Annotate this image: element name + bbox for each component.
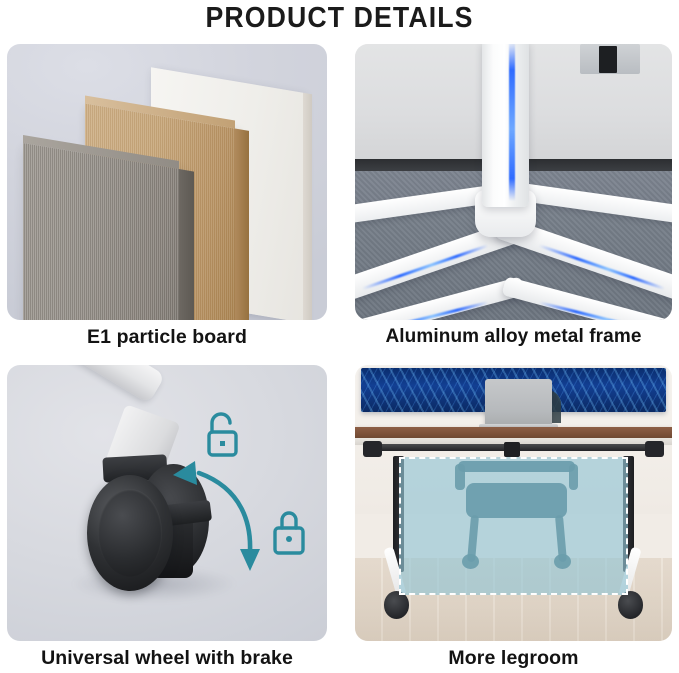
- board-gray: [23, 143, 179, 320]
- e1-particle-board-image: [7, 44, 327, 320]
- legroom-rail-bracket-center: [504, 442, 520, 457]
- caption-aluminum-frame: Aluminum alloy metal frame: [321, 326, 679, 348]
- frame-column: [482, 44, 530, 207]
- frame-column-glow: [509, 44, 516, 201]
- curved-arrow-path: [199, 473, 250, 551]
- universal-wheel-image: [7, 365, 327, 641]
- legroom-rail-bracket-left: [363, 441, 382, 458]
- aluminum-frame-image: [355, 44, 672, 320]
- details-grid: E1 particle board: [0, 44, 679, 673]
- legroom-laptop: [485, 379, 552, 426]
- wheel-lock-diagram: [7, 365, 327, 641]
- arrow-head-lock: [240, 549, 260, 571]
- caption-universal-wheel: Universal wheel with brake: [0, 647, 347, 670]
- caption-e1-particle-board: E1 particle board: [0, 326, 347, 349]
- lock-padlock-icon: [275, 513, 303, 553]
- frame-monitor-fragment: [580, 44, 640, 74]
- unlock-padlock-icon: [209, 414, 236, 455]
- arrow-head-unlock: [173, 461, 197, 485]
- detail-card-more-legroom: More legroom: [355, 365, 672, 641]
- board-oak-edge: [235, 129, 249, 320]
- page-title: PRODUCT DETAILS: [27, 2, 652, 35]
- board-gray-edge: [179, 169, 194, 320]
- detail-card-universal-wheel: Universal wheel with brake: [7, 365, 327, 641]
- product-details-infographic: PRODUCT DETAILS E1 particle board: [0, 0, 679, 673]
- legroom-rail-bracket-right: [645, 441, 664, 458]
- detail-card-aluminum-frame: Aluminum alloy metal frame: [355, 44, 672, 320]
- detail-card-e1-particle-board: E1 particle board: [7, 44, 327, 320]
- caption-more-legroom: More legroom: [335, 647, 679, 670]
- legroom-highlight-area: [399, 457, 627, 595]
- board-white-edge: [303, 93, 312, 320]
- more-legroom-image: [355, 365, 672, 641]
